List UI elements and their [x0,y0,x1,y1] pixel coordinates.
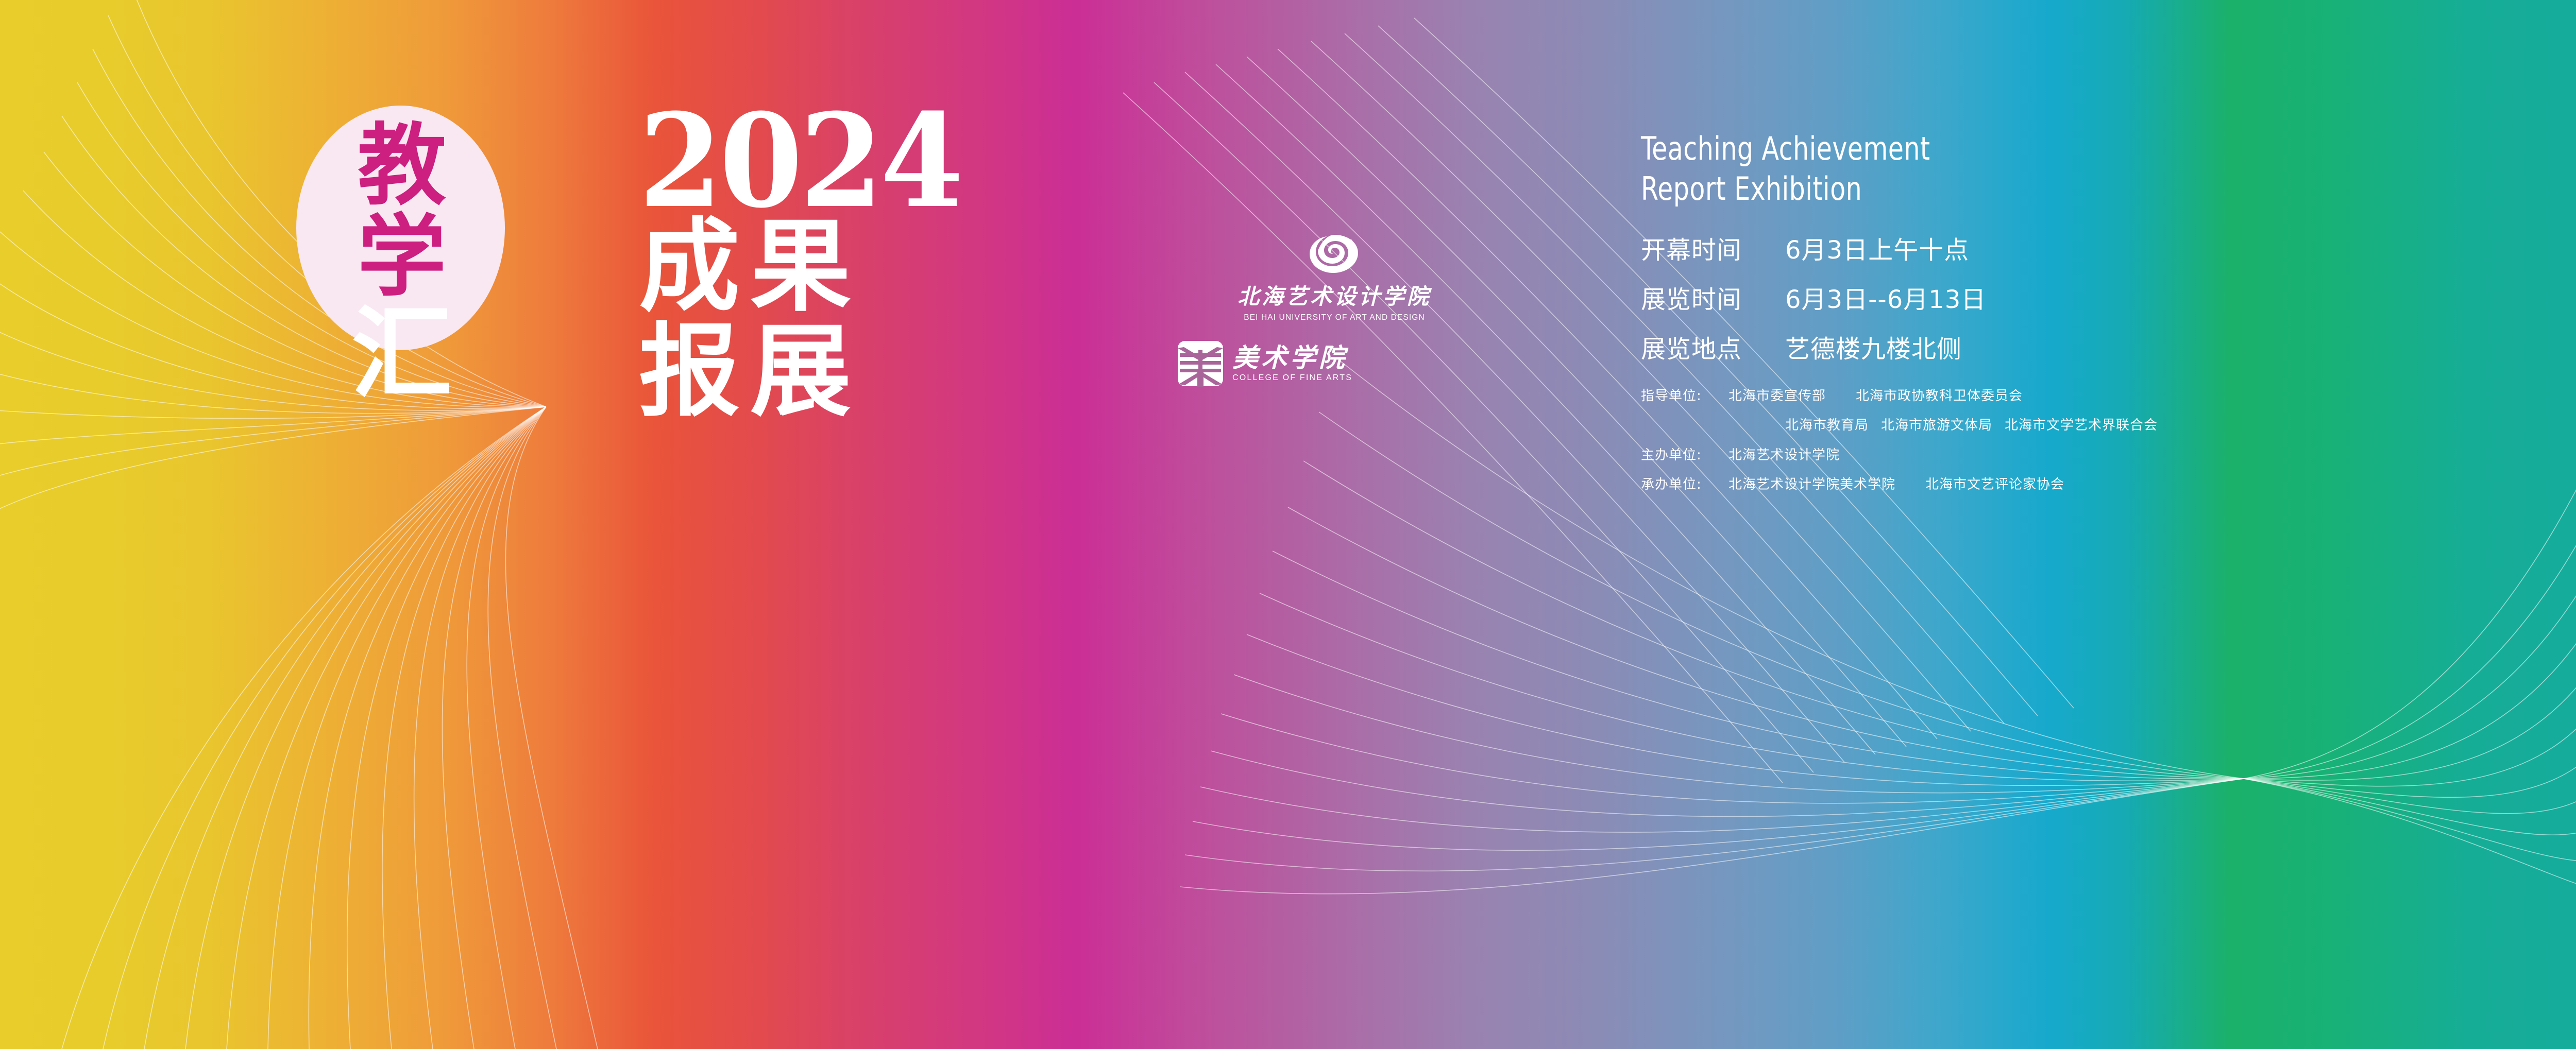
credit-item: 北海市文艺评论家协会 [1925,477,2064,493]
credit-item: 北海艺术设计学院美术学院 [1728,477,1895,493]
fine-arts-logo-unit: 美术学院 COLLEGE OF FINE ARTS [1170,340,1499,387]
info-value-opening-time: 6月3日上午十点 [1774,230,1969,266]
english-title-line-1: Teaching Achievement [1641,129,2412,169]
info-value-exhibition-time: 6月3日--6月13日 [1774,279,1986,315]
credit-items-host: 北海艺术设计学院 [1728,448,1840,463]
credit-item: 北海市政协教科卫体委员会 [1856,388,2023,404]
info-row-exhibition-time: 展览时间 6月3日--6月13日 [1641,279,2517,315]
organizer-credits: 指导单位: 北海市委宣传部 北海市政协教科卫体委员会 指导单位: 北海市教育局 … [1641,388,2517,493]
credit-items-guidance-2: 北海市教育局 北海市旅游文体局 北海市文学艺术界联合会 [1785,418,2158,434]
info-value-exhibition-place: 艺德楼九楼北侧 [1774,329,1962,365]
credit-row-guidance-1: 指导单位: 北海市委宣传部 北海市政协教科卫体委员会 [1641,388,2517,404]
credit-item: 北海市教育局 [1785,418,1869,434]
credit-item: 北海市文学艺术界联合会 [2005,418,2158,434]
title-row-baozhan: 报 展 [639,321,985,424]
fine-arts-text: 美术学院 COLLEGE OF FINE ARTS [1232,345,1499,383]
main-title-block: 2024 成 果 报 展 [639,108,985,424]
event-info-panel: Teaching Achievement Report Exhibition 开… [1641,129,2517,506]
credit-items-guidance-1: 北海市委宣传部 北海市政协教科卫体委员会 [1728,388,2023,404]
credit-label-organizer: 承办单位: [1641,477,1728,493]
credit-row-guidance-2: 指导单位: 北海市教育局 北海市旅游文体局 北海市文学艺术界联合会 [1641,418,2517,434]
vertical-char-jiao: 教 [358,124,446,208]
credit-item: 北海艺术设计学院 [1728,448,1840,463]
university-name-en: BEI HAI UNIVERSITY OF ART AND DESIGN [1170,313,1499,322]
credit-label-guidance: 指导单位: [1641,388,1728,404]
fine-arts-name-en: COLLEGE OF FINE ARTS [1232,373,1499,383]
vertical-title-chars: 教 学 汇 [309,124,495,402]
info-label-exhibition-time: 展览时间 [1641,279,1774,315]
fine-arts-name-cn: 美术学院 [1232,345,1499,372]
credit-row-host: 主办单位: 北海艺术设计学院 [1641,448,2517,463]
info-row-opening-time: 开幕时间 6月3日上午十点 [1641,230,2517,266]
swirl-logo-wrap [1170,232,1499,276]
exhibition-banner: 教 学 汇 2024 成 果 报 展 北海艺术设计学院 BEI HAI UNIV… [0,0,2576,1049]
info-label-exhibition-place: 展览地点 [1641,329,1774,365]
credit-item: 北海市旅游文体局 [1881,418,1992,434]
english-title-line-2: Report Exhibition [1641,169,2412,209]
credit-item: 北海市委宣传部 [1728,388,1826,404]
institution-logos: 北海艺术设计学院 BEI HAI UNIVERSITY OF ART AND D… [1170,232,1499,387]
credit-items-organizer: 北海艺术设计学院美术学院 北海市文艺评论家协会 [1728,477,2064,493]
info-row-exhibition-place: 展览地点 艺德楼九楼北侧 [1641,329,2517,365]
event-detail-rows: 开幕时间 6月3日上午十点 展览时间 6月3日--6月13日 展览地点 艺德楼九… [1641,230,2517,365]
university-name-cn: 北海艺术设计学院 [1170,279,1499,311]
vertical-char-hui: 汇 [351,306,452,402]
credit-row-organizer: 承办单位: 北海艺术设计学院美术学院 北海市文艺评论家协会 [1641,477,2517,493]
swirl-logo-icon [1307,232,1362,276]
vertical-char-xue: 学 [358,215,446,299]
title-char-zhan: 展 [750,321,851,424]
mei-square-logo-icon [1177,340,1224,387]
university-logo-unit: 北海艺术设计学院 BEI HAI UNIVERSITY OF ART AND D… [1170,232,1499,322]
info-label-opening-time: 开幕时间 [1641,230,1774,266]
year-2024: 2024 [639,108,961,214]
credit-label-host: 主办单位: [1641,448,1728,463]
title-char-bao: 报 [639,321,740,424]
